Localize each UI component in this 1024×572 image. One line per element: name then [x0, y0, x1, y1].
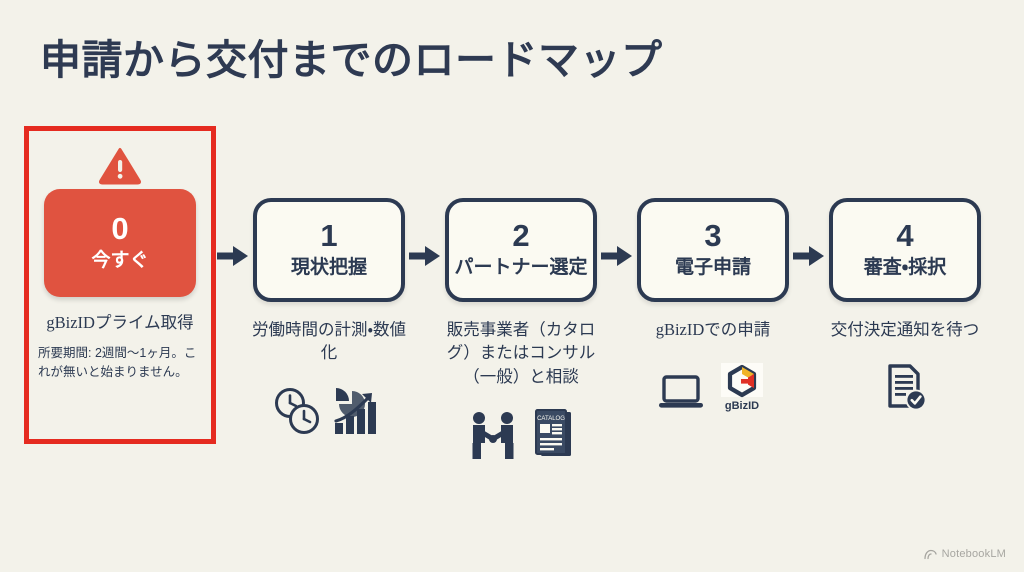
roadmap-step-2[interactable]: 2 パートナー選定 販売事業者（カタログ）またはコンサル（一般）と相談 CATA…: [442, 126, 600, 460]
document-check-icon: [881, 363, 929, 413]
arrow-right-icon: [601, 244, 633, 268]
roadmap-node-0-label: 今すぐ: [91, 250, 148, 273]
watermark: NotebookLM: [924, 548, 1006, 560]
roadmap-node-3-label: 電子申請: [675, 257, 751, 280]
roadmap-step-4-icons: [881, 355, 929, 413]
growth-chart-icon: [333, 385, 387, 437]
gbizid-logo-text: gBizID: [725, 400, 759, 412]
roadmap-node-1-number: 1: [320, 220, 337, 253]
roadmap-node-0[interactable]: 0 今すぐ: [44, 189, 196, 297]
roadmap-node-4-number: 4: [896, 220, 913, 253]
notebooklm-logo-icon: [924, 549, 937, 560]
watermark-label: NotebookLM: [942, 548, 1006, 560]
laptop-icon: [657, 373, 705, 413]
roadmap-node-3-number: 3: [704, 220, 721, 253]
roadmap-step-0-caption: gBizIDプライム取得: [36, 311, 204, 334]
roadmap-arrow-1-to-2: [408, 244, 442, 562]
handshake-icon: [466, 410, 522, 460]
roadmap-step-3-icons: gBizID: [657, 355, 769, 413]
gbizid-logo-icon: gBizID: [715, 363, 769, 413]
roadmap-step-3-caption: gBizIDでの申請: [633, 318, 793, 341]
page-title: 申請から交付までのロードマップ: [40, 26, 663, 86]
roadmap-node-0-number: 0: [111, 213, 128, 246]
roadmap-step-0-subcaption: 所要期間: 2週間〜1ヶ月。これが無いと始まりません。: [38, 344, 202, 380]
arrow-right-icon: [217, 244, 249, 268]
warning-triangle-icon-wrap: [99, 143, 141, 189]
roadmap-node-4-label: 審査・採択: [864, 257, 946, 280]
warning-triangle-icon: [99, 147, 141, 185]
roadmap-node-2-label: パートナー選定: [454, 257, 587, 280]
roadmap-node-4[interactable]: 4 審査・採択: [829, 198, 981, 302]
roadmap-step-1[interactable]: 1 現状把握 労働時間の計測・数値化: [250, 126, 408, 437]
arrow-right-icon: [793, 244, 825, 268]
roadmap-step-4[interactable]: 4 審査・採択 交付決定通知を待つ: [826, 126, 984, 413]
roadmap-arrow-0-to-1: [216, 244, 250, 562]
arrow-right-icon: [409, 244, 441, 268]
roadmap-step-2-caption: 販売事業者（カタログ）またはコンサル（一般）と相談: [441, 318, 601, 388]
roadmap-node-1-label: 現状把握: [291, 257, 367, 280]
roadmap-step-0[interactable]: 0 今すぐ gBizIDプライム取得 所要期間: 2週間〜1ヶ月。これが無いと始…: [24, 126, 216, 444]
roadmap-node-2-number: 2: [512, 220, 529, 253]
catalog-icon-text: CATALOG: [537, 416, 565, 422]
roadmap-arrow-2-to-3: [600, 244, 634, 562]
roadmap-step-1-caption: 労働時間の計測・数値化: [249, 318, 409, 365]
clock-icon: [271, 385, 323, 437]
roadmap-step-1-icons: [271, 379, 387, 437]
catalog-icon: CATALOG: [532, 408, 576, 460]
roadmap-node-1[interactable]: 1 現状把握: [253, 198, 405, 302]
roadmap-node-3[interactable]: 3 電子申請: [637, 198, 789, 302]
roadmap-arrow-3-to-4: [792, 244, 826, 562]
roadmap-step-2-icons: CATALOG: [466, 402, 576, 460]
roadmap-step-4-caption: 交付決定通知を待つ: [825, 318, 985, 341]
roadmap-step-3[interactable]: 3 電子申請 gBizIDでの申請 gBizID: [634, 126, 792, 413]
roadmap-flow: 0 今すぐ gBizIDプライム取得 所要期間: 2週間〜1ヶ月。これが無いと始…: [0, 126, 1024, 466]
roadmap-node-2[interactable]: 2 パートナー選定: [445, 198, 597, 302]
